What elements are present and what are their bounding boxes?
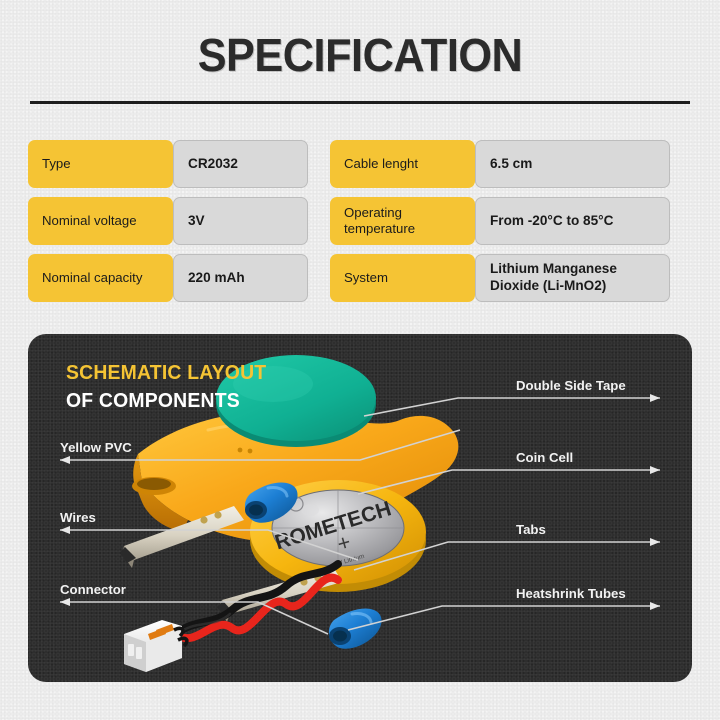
column-gap	[308, 140, 330, 188]
schematic-heading: SCHEMATIC LAYOUT OF COMPONENTS	[66, 362, 273, 413]
spec-label-nominal-capacity: Nominal capacity	[28, 254, 173, 302]
callout-label-yellow-pvc: Yellow PVC	[60, 440, 132, 455]
specification-table: Type CR2032 Cable lenght 6.5 cm Nominal …	[28, 140, 692, 307]
spec-value-operating-temperature: From -20°C to 85°C	[475, 197, 670, 245]
connector-part	[124, 620, 187, 672]
callout-label-connector: Connector	[60, 582, 126, 597]
spec-value-nominal-voltage: 3V	[173, 197, 308, 245]
schematic-heading-line1: SCHEMATIC LAYOUT	[66, 362, 266, 385]
callout-label-wires: Wires	[60, 510, 96, 525]
callout-label-tabs: Tabs	[516, 522, 546, 537]
page-title: SPECIFICATION	[22, 28, 699, 82]
callout-label-double-side-tape: Double Side Tape	[516, 378, 626, 393]
spec-label-system: System	[330, 254, 475, 302]
spec-value-nominal-capacity: 220 mAh	[173, 254, 308, 302]
callout-label-heatshrink-tubes: Heatshrink Tubes	[516, 586, 626, 601]
spec-label-cable-lenght: Cable lenght	[330, 140, 475, 188]
callout-label-coin-cell: Coin Cell	[516, 450, 573, 465]
spec-label-nominal-voltage: Nominal voltage	[28, 197, 173, 245]
schematic-heading-line2: OF COMPONENTS	[66, 390, 266, 413]
spec-label-operating-temperature: Operating temperature	[330, 197, 475, 245]
schematic-layout-panel: SCHEMATIC LAYOUT OF COMPONENTS	[28, 334, 692, 682]
column-gap	[308, 197, 330, 245]
spec-value-type: CR2032	[173, 140, 308, 188]
heatshrink-tube-lower-part	[329, 608, 382, 648]
spec-value-system: Lithium Manganese Dioxide (Li-MnO2)	[475, 254, 670, 302]
spec-label-type: Type	[28, 140, 173, 188]
spec-value-cable-lenght: 6.5 cm	[475, 140, 670, 188]
twisted-wires-part	[176, 564, 338, 638]
column-gap	[308, 254, 330, 302]
title-divider	[30, 101, 690, 104]
